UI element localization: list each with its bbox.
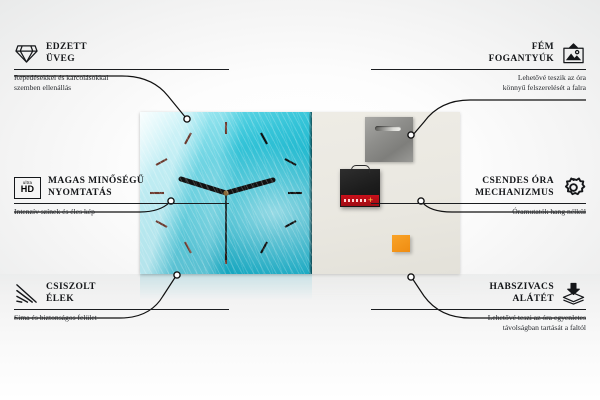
feature-header: ultra HD MAGAS MINŐSÉGŰ NYOMTATÁS bbox=[14, 176, 229, 199]
feature-description: Intenzív színek és éles kép bbox=[14, 207, 229, 217]
desc-line-2: távolságban tartását a faltól bbox=[503, 323, 586, 332]
feature-divider bbox=[371, 309, 586, 310]
feature-description: Óramutatók hang nélkül bbox=[371, 207, 586, 217]
feature-foam-pad: HABSZIVACS ALÁTÉT Lehetővé teszi az óra … bbox=[371, 282, 586, 332]
title-line-2: MECHANIZMUS bbox=[475, 188, 554, 198]
feature-description: Lehetővé teszi az óra egyenletes távolsá… bbox=[371, 313, 586, 332]
desc-line-1: Lehetővé teszi az óra egyenletes bbox=[488, 313, 586, 322]
desc-line-2: szemben ellenállás bbox=[14, 83, 71, 92]
desc-line-1: Óramutatók hang nélkül bbox=[512, 207, 586, 216]
desc-line-1: Lehetővé teszik az óra bbox=[518, 73, 586, 82]
feature-divider bbox=[371, 203, 586, 204]
feature-polished-edges: CSISZOLT ÉLEK Sima és biztonságos felüle… bbox=[14, 282, 229, 323]
title-line-1: MAGAS MINŐSÉGŰ bbox=[48, 176, 144, 186]
desc-line-1: Sima és biztonságos felület bbox=[14, 313, 97, 322]
ultra-hd-icon: ultra HD bbox=[14, 177, 41, 199]
title-line-1: CSISZOLT bbox=[46, 282, 96, 292]
feature-divider bbox=[371, 69, 586, 70]
foam-pad-icon bbox=[561, 282, 586, 305]
feature-header: FÉM FOGANTYÚK bbox=[371, 42, 586, 65]
connector-metal-handles bbox=[412, 100, 586, 136]
desc-line-2: könnyű felszerelését a falra bbox=[503, 83, 586, 92]
feature-description: Repedésekkel és karcolásokkal szemben el… bbox=[14, 73, 229, 92]
diamond-icon bbox=[14, 42, 39, 65]
feature-title: CSISZOLT ÉLEK bbox=[46, 282, 96, 305]
title-line-2: ALÁTÉT bbox=[513, 294, 554, 304]
feature-title: CSENDES ÓRA MECHANIZMUS bbox=[475, 176, 554, 199]
picture-hanger-icon bbox=[561, 42, 586, 65]
title-line-1: EDZETT bbox=[46, 42, 87, 52]
feature-header: CSISZOLT ÉLEK bbox=[14, 282, 229, 305]
hd-label: HD bbox=[21, 185, 35, 194]
title-line-2: ÜVEG bbox=[46, 54, 75, 64]
feature-divider bbox=[14, 309, 229, 310]
feature-tempered-glass: EDZETT ÜVEG Repedésekkel és karcolásokka… bbox=[14, 42, 229, 92]
feature-title: HABSZIVACS ALÁTÉT bbox=[489, 282, 554, 305]
feature-title: EDZETT ÜVEG bbox=[46, 42, 87, 65]
title-line-2: ÉLEK bbox=[46, 294, 74, 304]
feature-header: EDZETT ÜVEG bbox=[14, 42, 229, 65]
bevelled-edge-icon bbox=[14, 282, 39, 305]
gear-icon bbox=[561, 176, 586, 199]
feature-title: MAGAS MINŐSÉGŰ NYOMTATÁS bbox=[48, 176, 144, 199]
desc-line-1: Repedésekkel és karcolásokkal bbox=[14, 73, 108, 82]
connector-dot-polished-edges bbox=[174, 272, 180, 278]
feature-description: Sima és biztonságos felület bbox=[14, 313, 229, 323]
feature-divider bbox=[14, 69, 229, 70]
feature-metal-handles: FÉM FOGANTYÚK Lehetővé teszik az óra kön… bbox=[371, 42, 586, 92]
feature-description: Lehetővé teszik az óra könnyű felszerelé… bbox=[371, 73, 586, 92]
desc-line-1: Intenzív színek és éles kép bbox=[14, 207, 95, 216]
feature-header: CSENDES ÓRA MECHANIZMUS bbox=[371, 176, 586, 199]
connector-dot-metal-handles bbox=[408, 132, 414, 138]
title-line-1: FÉM bbox=[532, 42, 554, 52]
infographic-canvas: + bbox=[0, 0, 600, 400]
title-line-1: HABSZIVACS bbox=[489, 282, 554, 292]
feature-high-quality-print: ultra HD MAGAS MINŐSÉGŰ NYOMTATÁS Intenz… bbox=[14, 176, 229, 217]
title-line-1: CSENDES ÓRA bbox=[482, 176, 554, 186]
feature-title: FÉM FOGANTYÚK bbox=[489, 42, 554, 65]
title-line-2: NYOMTATÁS bbox=[48, 188, 112, 198]
title-line-2: FOGANTYÚK bbox=[489, 54, 554, 64]
connector-dot-tempered-glass bbox=[184, 116, 190, 122]
connector-dot-foam-pad bbox=[408, 274, 414, 280]
feature-header: HABSZIVACS ALÁTÉT bbox=[371, 282, 586, 305]
feature-divider bbox=[14, 203, 229, 204]
feature-silent-mechanism: CSENDES ÓRA MECHANIZMUS Óramutatók hang … bbox=[371, 176, 586, 217]
